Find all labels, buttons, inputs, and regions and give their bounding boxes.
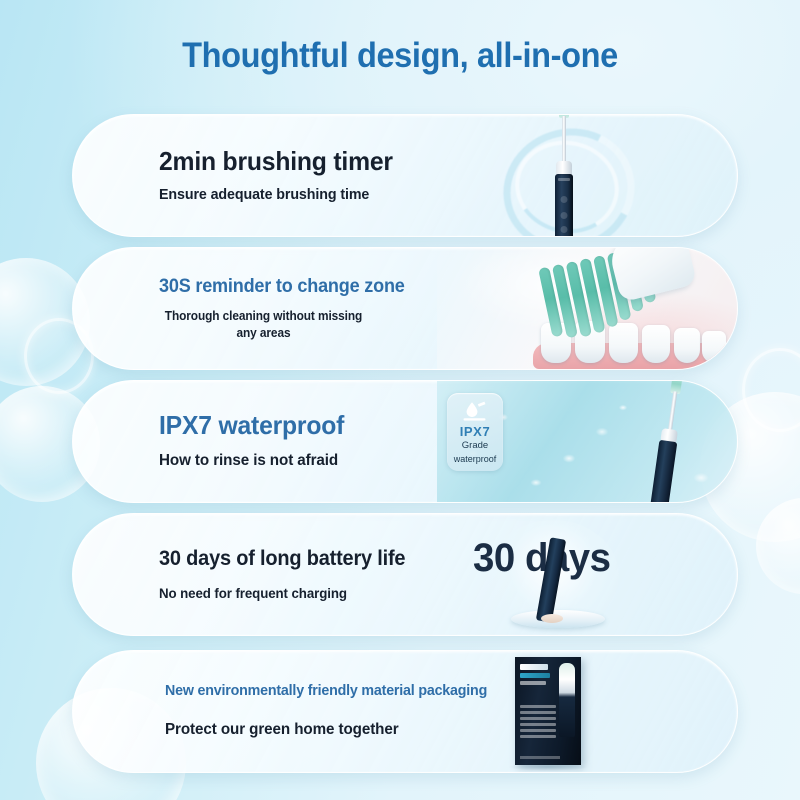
- card-headline: New environmentally friendly material pa…: [165, 683, 487, 700]
- box-brand-band: [520, 673, 550, 678]
- card-subline: Thorough cleaning without missing any ar…: [159, 308, 368, 341]
- artwork-toothbrush-swoosh: [475, 115, 715, 236]
- card-subline: Ensure adequate brushing time: [159, 185, 393, 205]
- brush-bristle-tip: [670, 380, 683, 394]
- brush-collar: [556, 161, 572, 177]
- toothbrush-icon: [647, 380, 690, 503]
- bubble-ring-decoration-right: [742, 348, 800, 432]
- charging-base-post: [541, 614, 563, 623]
- swoosh-ring-inner-icon: [507, 131, 628, 237]
- infographic-page: Thoughtful design, all-in-one 2min brush…: [0, 0, 800, 800]
- brush-head-bristles-icon: [538, 247, 668, 345]
- brush-bristle-tip: [559, 114, 569, 118]
- brush-handle: [648, 440, 677, 503]
- tooth: [674, 328, 700, 363]
- box-brand-logo: [520, 664, 548, 670]
- card-headline: 30S reminder to change zone: [159, 276, 405, 297]
- brush-head-body: [607, 247, 698, 303]
- toothbrush-icon: [551, 114, 577, 237]
- card-headline: IPX7 waterproof: [159, 411, 344, 440]
- artwork-charging-base: 30 days: [451, 514, 731, 635]
- feature-card-battery-life[interactable]: 30 days 30 days of long battery life No …: [72, 513, 738, 636]
- card-text-block: 2min brushing timer Ensure adequate brus…: [159, 115, 405, 236]
- ipx7-badge: IPX7 Grade waterproof: [447, 393, 503, 471]
- brush-handle: [555, 174, 573, 237]
- ipx7-grade-label: Grade: [462, 440, 488, 452]
- brush-mode-button: [561, 212, 568, 219]
- teeth-photo-background: [437, 248, 737, 369]
- artwork-teeth-brushhead: [437, 248, 737, 369]
- brush-power-button: [561, 196, 568, 203]
- ipx7-waterproof-label: waterproof: [454, 454, 497, 465]
- feature-card-waterproof[interactable]: IPX7 Grade waterproof IPX7 waterproof Ho…: [72, 380, 738, 503]
- charging-base: [511, 610, 605, 628]
- battery-days-highlight: 30 days: [473, 536, 611, 581]
- gum-line: [533, 343, 733, 369]
- glow-circle-decoration: [487, 520, 619, 632]
- product-retail-box-icon: [515, 657, 581, 765]
- card-headline: 2min brushing timer: [159, 147, 393, 176]
- card-subline: Protect our green home together: [165, 720, 487, 741]
- feature-card-zone-reminder[interactable]: 30S reminder to change zone Thorough cle…: [72, 247, 738, 370]
- tooth: [642, 325, 670, 363]
- brush-neck: [667, 391, 677, 435]
- card-headline: 30 days of long battery life: [159, 547, 405, 571]
- card-text-block: 30 days of long battery life No need for…: [159, 514, 418, 635]
- feature-card-brushing-timer[interactable]: 2min brushing timer Ensure adequate brus…: [72, 114, 738, 237]
- tooth: [575, 321, 605, 363]
- tooth: [702, 331, 726, 363]
- card-subline: How to rinse is not afraid: [159, 451, 344, 472]
- card-subline: No need for frequent charging: [159, 584, 405, 602]
- card-text-block: 30S reminder to change zone Thorough cle…: [159, 248, 418, 369]
- box-description-lines: [520, 705, 556, 741]
- brush-collar: [660, 428, 678, 444]
- water-texture-background: [437, 381, 737, 502]
- card-text-block: IPX7 waterproof How to rinse is not afra…: [159, 381, 354, 502]
- brush-brand-mark: [558, 178, 570, 181]
- toothbrush-handle-icon: [536, 537, 566, 623]
- product-box-shadow: [509, 763, 587, 771]
- bubble-decoration-right-lower: [756, 498, 800, 594]
- tooth: [609, 323, 638, 363]
- artwork-water-splash: IPX7 Grade waterproof: [437, 381, 737, 502]
- box-barcode-strip: [520, 756, 560, 759]
- brush-intensity-button: [561, 226, 568, 233]
- box-product-image: [559, 663, 575, 737]
- card-text-block: New environmentally friendly material pa…: [165, 651, 504, 772]
- brush-neck: [562, 116, 566, 168]
- feature-card-eco-packaging[interactable]: New environmentally friendly material pa…: [72, 650, 738, 773]
- tooth: [541, 323, 571, 363]
- swoosh-ring-icon: [487, 114, 650, 237]
- ipx7-rating-label: IPX7: [460, 425, 491, 438]
- box-model-label: [520, 681, 546, 685]
- water-drop-waterproof-icon: [461, 400, 489, 422]
- page-title: Thoughtful design, all-in-one: [28, 36, 772, 76]
